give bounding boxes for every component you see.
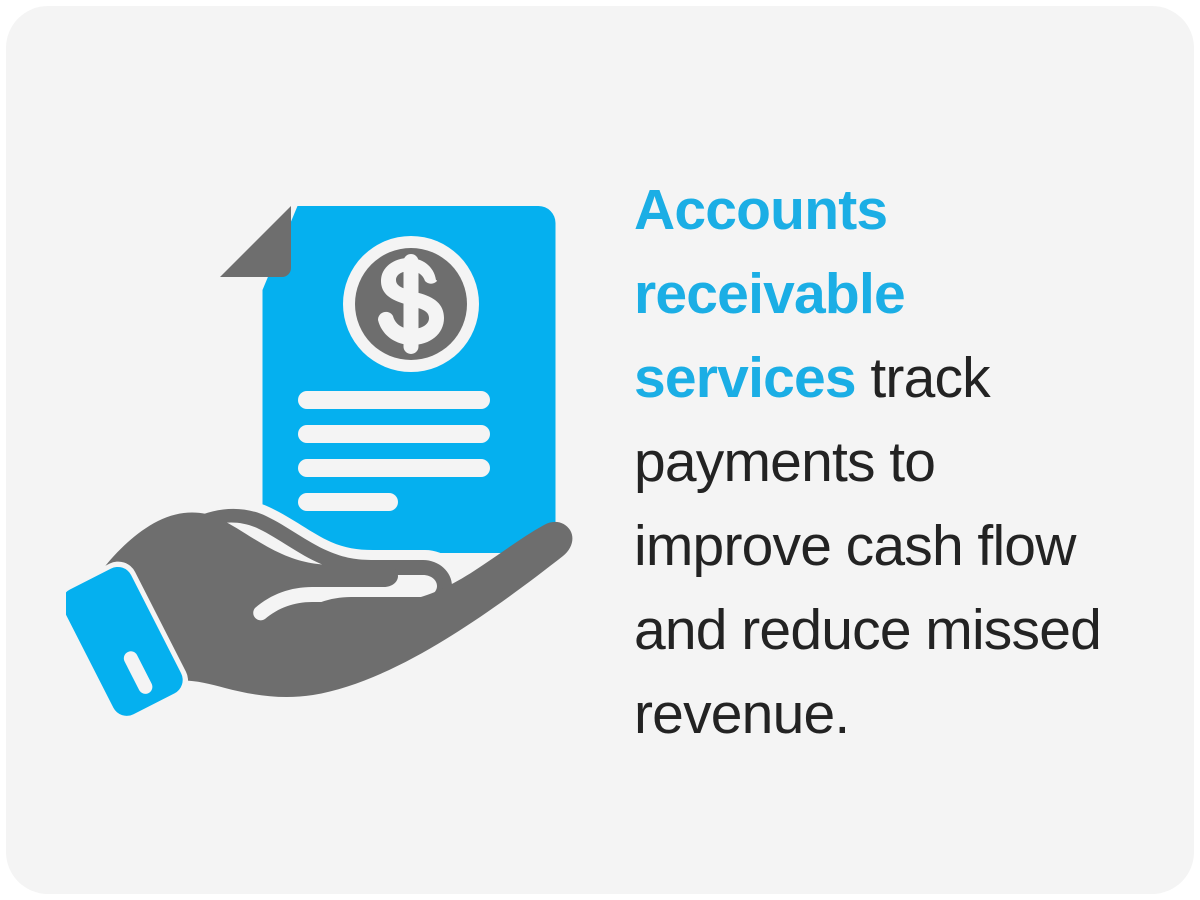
- document-line-1: [298, 391, 490, 409]
- hand-holding-invoice-illustration: [66, 176, 606, 716]
- page-fold-corner: [220, 206, 291, 277]
- copy-block: Accounts receivable services track payme…: [634, 168, 1112, 756]
- document-line-2: [298, 425, 490, 443]
- info-card: Accounts receivable services track payme…: [6, 6, 1194, 894]
- description-paragraph: Accounts receivable services track payme…: [634, 168, 1112, 756]
- dollar-coin-icon: [343, 236, 479, 372]
- document-line-3: [298, 459, 490, 477]
- document-line-4: [298, 493, 398, 511]
